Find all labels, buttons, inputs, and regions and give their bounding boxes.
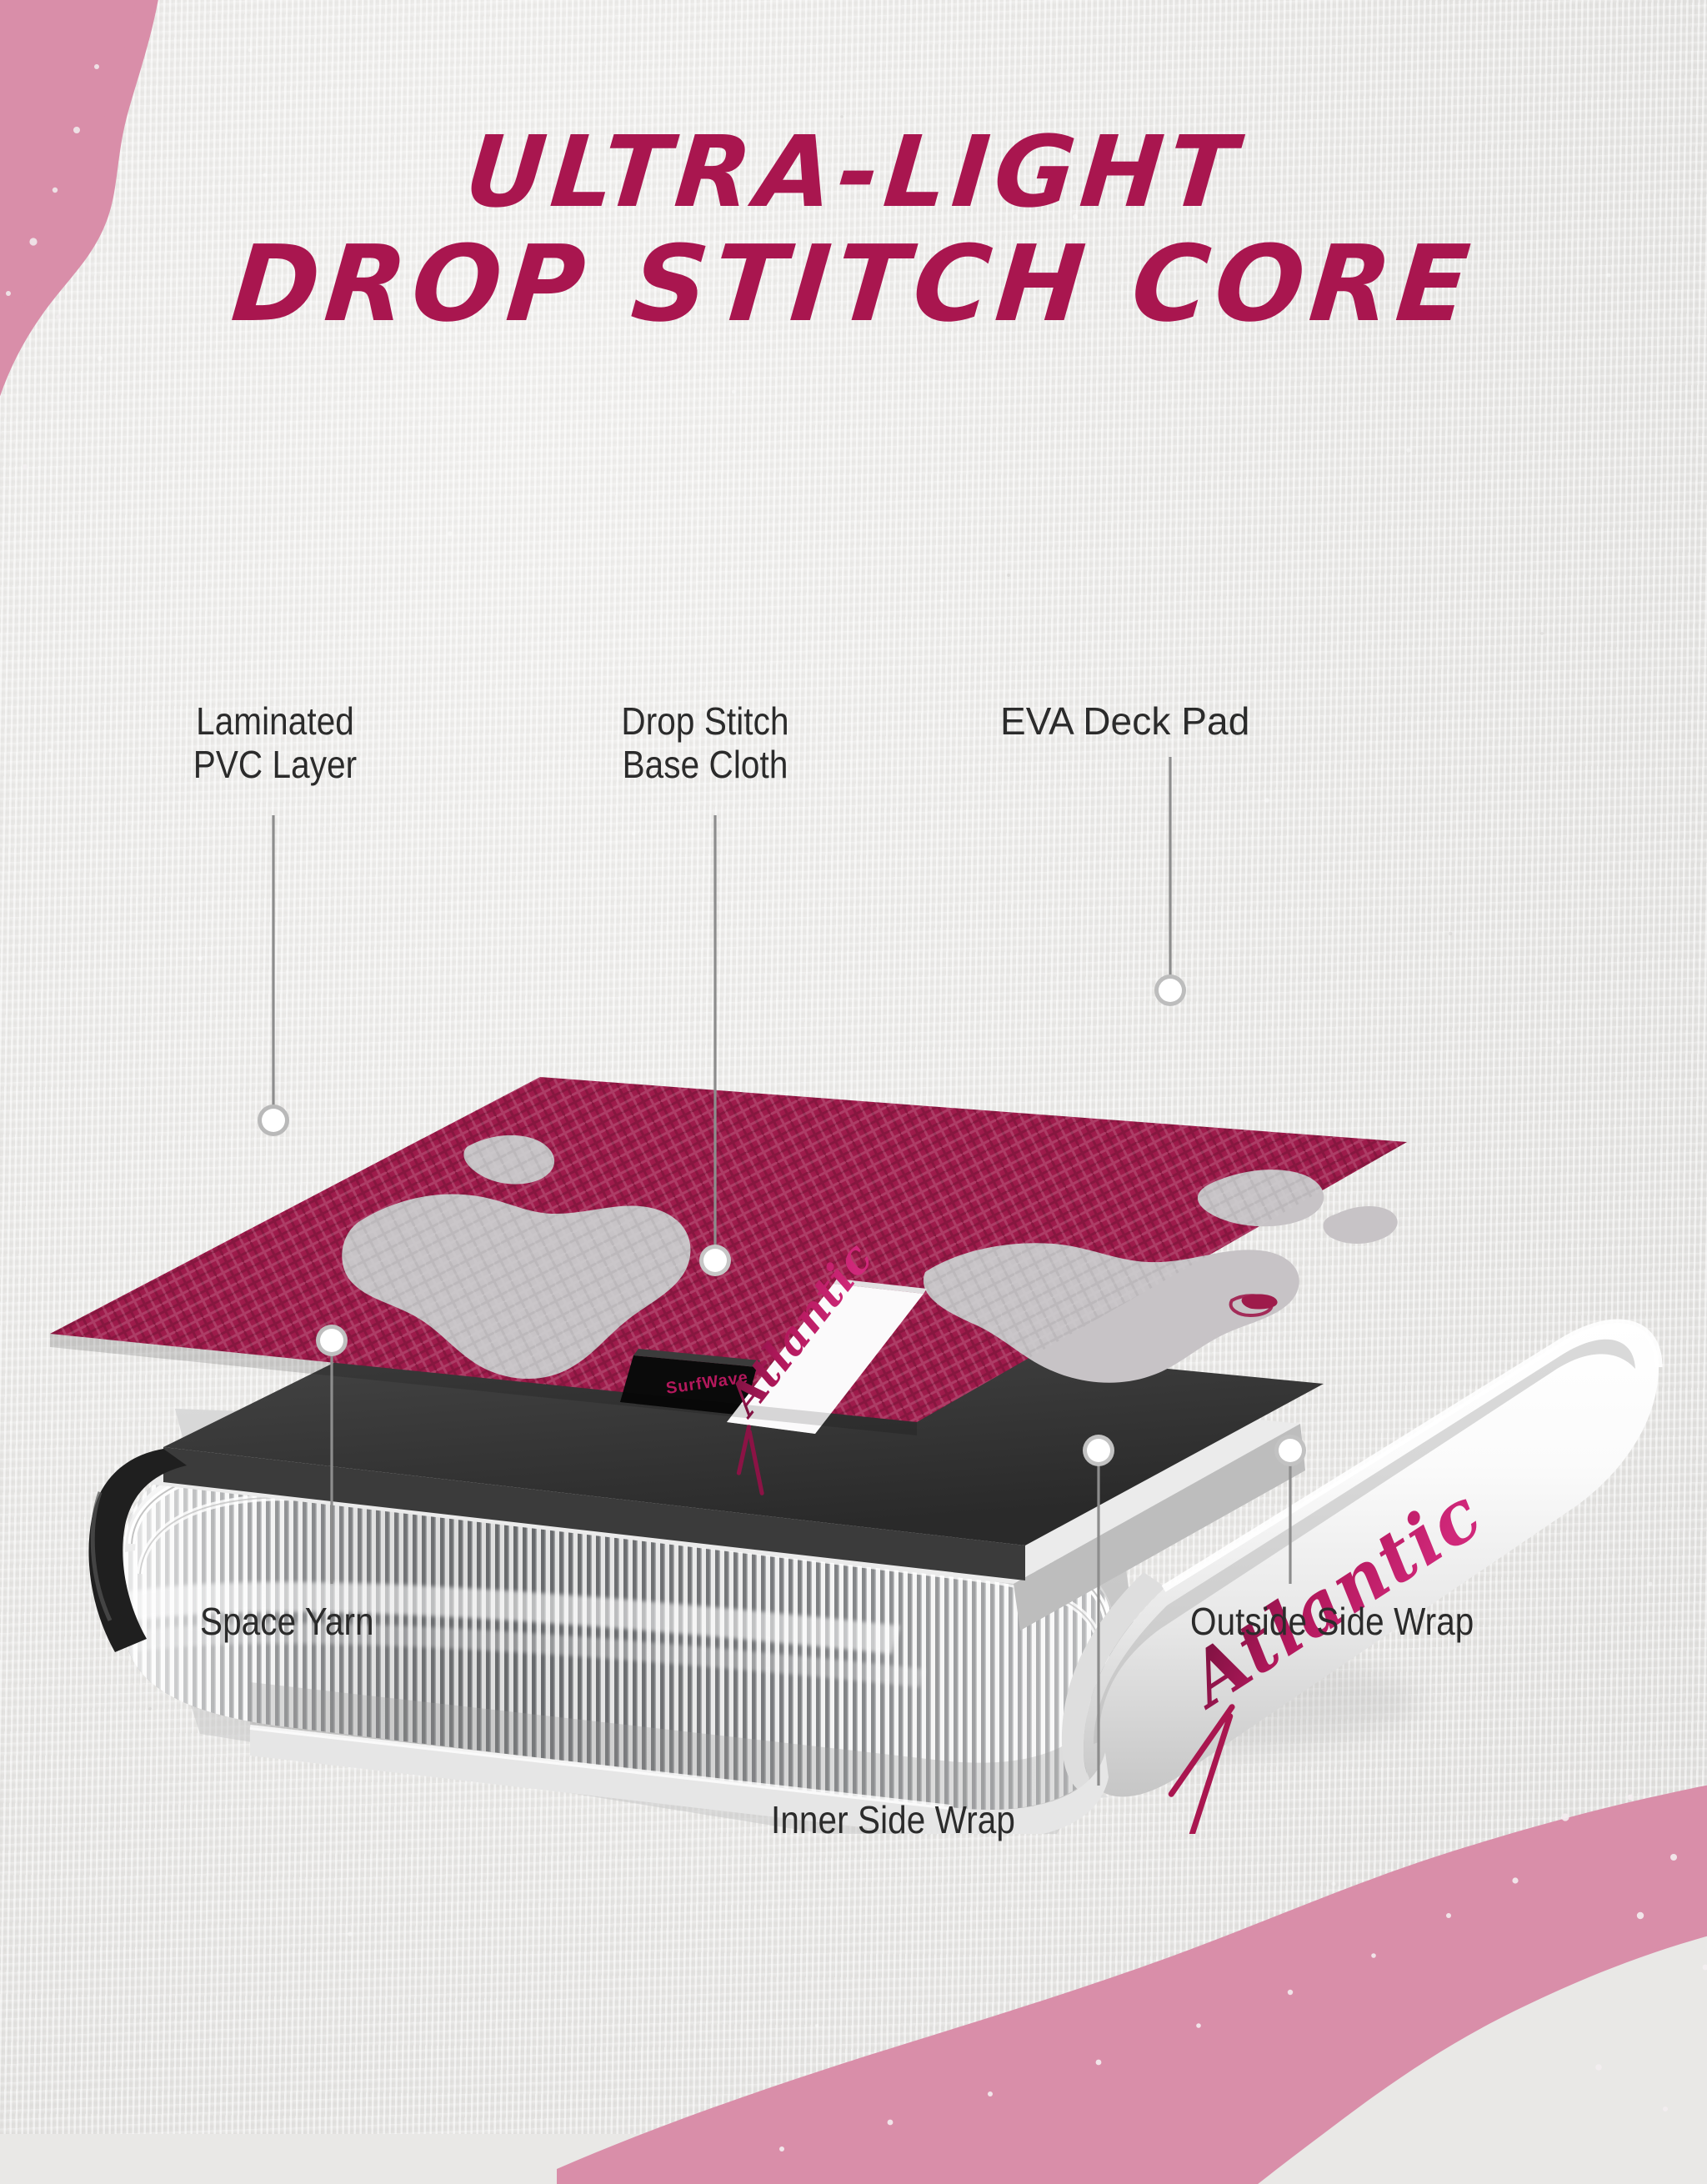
callout-label-space-yarn: Space Yarn — [200, 1600, 374, 1644]
callout-label-inner-side-wrap: Inner Side Wrap — [771, 1799, 1015, 1842]
callout-label-eva-deck-pad: EVA Deck Pad — [1000, 700, 1249, 744]
callout-label-outside-side-wrap: Outside Side Wrap — [1190, 1600, 1474, 1644]
pink-brush-accent-top-left — [0, 0, 333, 717]
title-block: ULTRA-LIGHT DROP STITCH CORE — [0, 123, 1707, 337]
product-exploded-illustration: SurfWave Atlantic Atlantic — [0, 750, 1707, 1834]
page-title-line-2: DROP STITCH CORE — [0, 233, 1707, 337]
callout-label-drop-stitch: Drop Stitch Base Cloth — [558, 700, 852, 786]
callout-label-laminated-pvc: Laminated PVC Layer — [136, 700, 414, 786]
page-title-line-1: ULTRA-LIGHT — [0, 123, 1707, 221]
